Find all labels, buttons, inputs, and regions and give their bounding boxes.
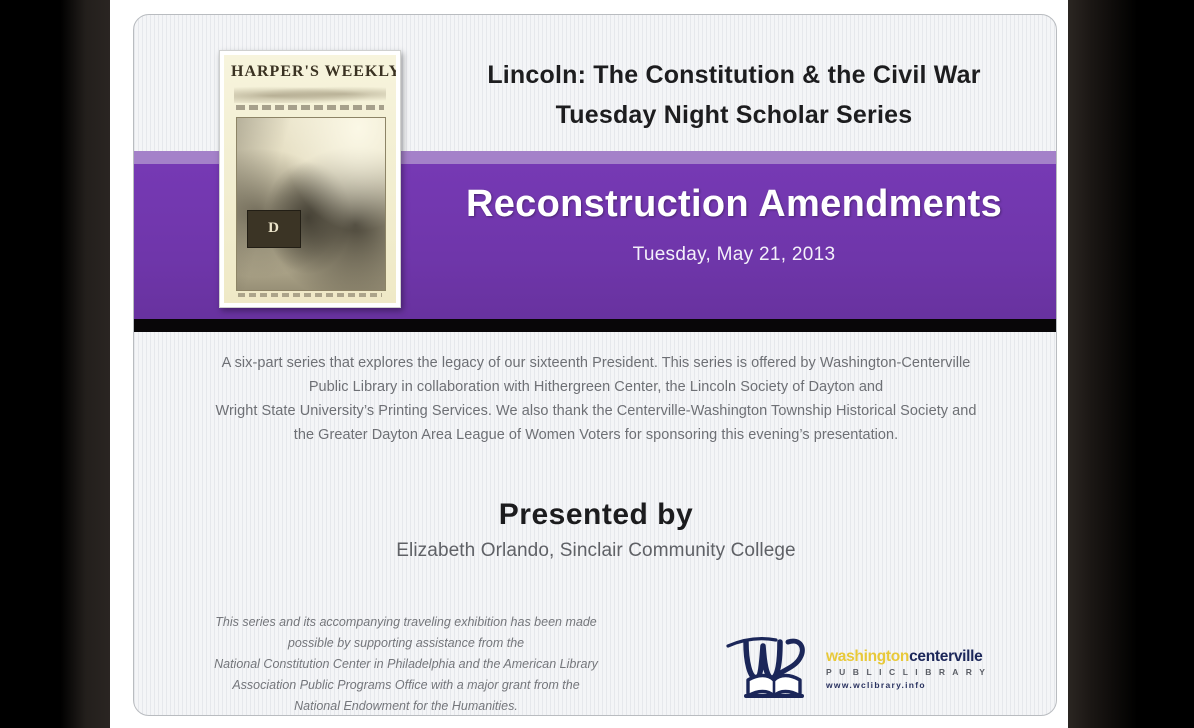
- funding-credits: This series and its accompanying traveli…: [156, 612, 656, 716]
- series-title-line-2: Tuesday Night Scholar Series: [434, 95, 1034, 135]
- description-line: A six-part series that explores the lega…: [160, 351, 1032, 375]
- harpers-weekly-cover-image: HARPER'S WEEKLY D: [219, 50, 401, 308]
- credit-line: National Constitution Center in Philadel…: [156, 654, 656, 675]
- presenter-block: Presented by Elizabeth Orlando, Sinclair…: [160, 498, 1032, 562]
- library-logo: washingtoncenterville P U B L I C L I B …: [726, 626, 994, 704]
- credit-line: National Endowment for the Humanities.: [156, 696, 656, 716]
- letterbox-left: [0, 0, 110, 728]
- cover-illustration: HARPER'S WEEKLY D: [224, 55, 396, 303]
- wc-book-logo-icon: [726, 628, 822, 702]
- video-player-frame: Lincoln: The Constitution & the Civil Wa…: [0, 0, 1194, 728]
- slide-header: Lincoln: The Constitution & the Civil Wa…: [434, 55, 1034, 135]
- series-description: A six-part series that explores the lega…: [160, 351, 1032, 447]
- letterbox-right: [1068, 0, 1194, 728]
- credit-line: This series and its accompanying traveli…: [156, 612, 656, 633]
- description-line: Public Library in collaboration with Hit…: [160, 375, 1032, 399]
- presented-by-label: Presented by: [160, 498, 1032, 532]
- logo-wordmark: washingtoncenterville P U B L I C L I B …: [826, 648, 996, 690]
- cover-engraving-scene: D: [236, 117, 386, 291]
- logo-tagline: P U B L I C L I B R A R Y: [826, 667, 996, 677]
- logo-centerville-text: centerville: [909, 648, 982, 665]
- presenter-name: Elizabeth Orlando, Sinclair Community Co…: [160, 540, 1032, 562]
- slide-date: Tuesday, May 21, 2013: [434, 244, 1034, 266]
- cover-dateline: [236, 105, 384, 110]
- logo-washington-text: washington: [826, 648, 909, 665]
- banner-bottom-rule: [134, 319, 1057, 332]
- ballot-box-label: D: [248, 211, 300, 245]
- banner-text-group: Reconstruction Amendments Tuesday, May 2…: [434, 183, 1034, 266]
- logo-url: www.wclibrary.info: [826, 680, 996, 690]
- presentation-slide: Lincoln: The Constitution & the Civil Wa…: [110, 0, 1068, 728]
- credit-line: possible by supporting assistance from t…: [156, 633, 656, 654]
- description-line: Wright State University’s Printing Servi…: [160, 399, 1032, 423]
- logo-name-row: washingtoncenterville: [826, 648, 996, 665]
- cover-masthead-ornament: [234, 85, 386, 103]
- cover-caption-line: [238, 293, 382, 297]
- series-title-line-1: Lincoln: The Constitution & the Civil Wa…: [434, 55, 1034, 95]
- credit-line: Association Public Programs Office with …: [156, 675, 656, 696]
- description-line: the Greater Dayton Area League of Women …: [160, 423, 1032, 447]
- slide-title: Reconstruction Amendments: [434, 183, 1034, 226]
- ballot-box-icon: D: [247, 210, 301, 248]
- slide-content-panel: Lincoln: The Constitution & the Civil Wa…: [133, 14, 1057, 716]
- cover-masthead-text: HARPER'S WEEKLY: [231, 63, 389, 81]
